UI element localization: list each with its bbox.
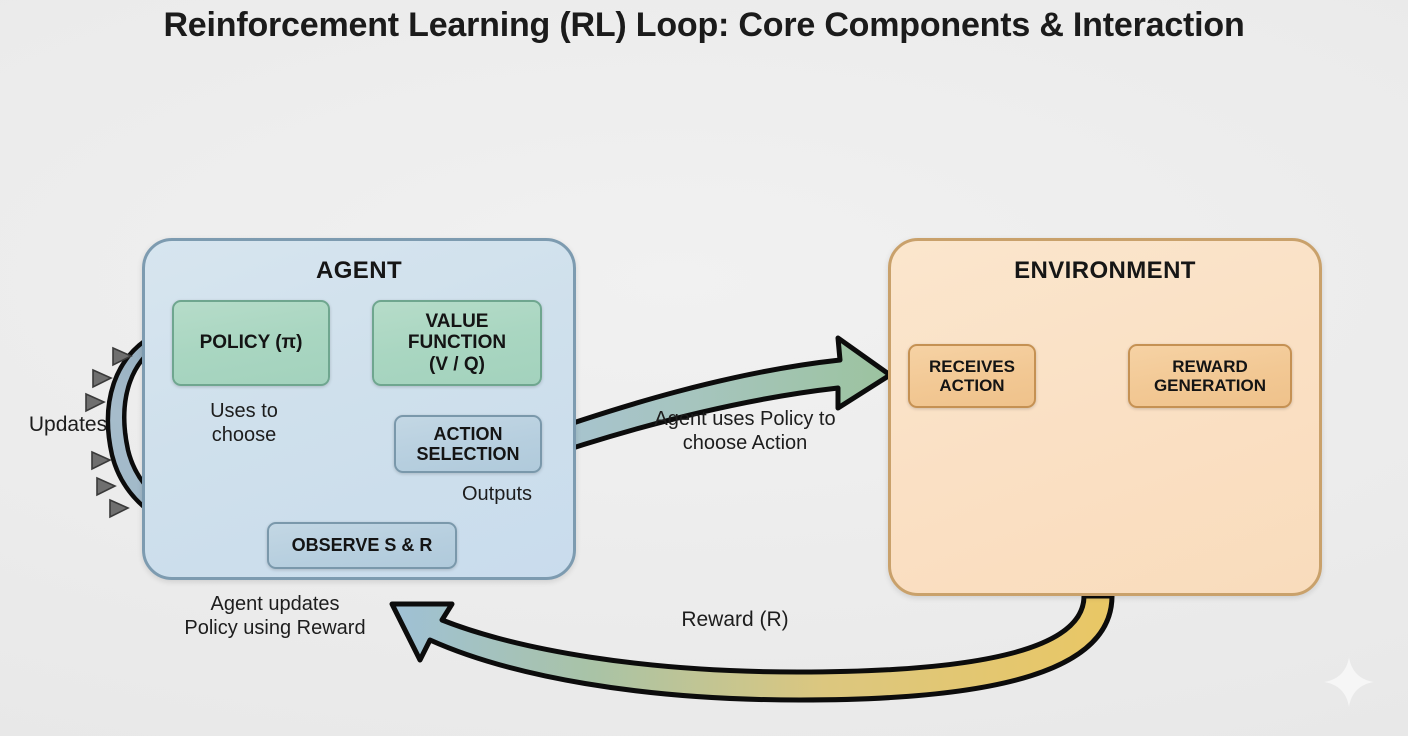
node-action-selection-label: ACTIONSELECTION <box>416 424 519 464</box>
node-receives-action-label: RECEIVESACTION <box>929 357 1015 395</box>
label-outputs: Outputs <box>462 483 562 507</box>
label-updates: Updates <box>8 413 128 438</box>
label-uses-to-choose: Uses tochoose <box>184 400 304 447</box>
environment-title: ENVIRONMENT <box>891 257 1319 285</box>
node-observe-label: OBSERVE S & R <box>292 535 433 555</box>
node-policy[interactable]: POLICY (π) <box>172 300 330 386</box>
node-reward-generation[interactable]: REWARDGENERATION <box>1128 344 1292 408</box>
node-reward-generation-label: REWARDGENERATION <box>1154 357 1266 395</box>
node-value-function[interactable]: VALUEFUNCTION(V / Q) <box>372 300 542 386</box>
node-policy-label: POLICY (π) <box>200 332 303 353</box>
node-observe-s-and-r[interactable]: OBSERVE S & R <box>267 522 457 569</box>
diagram-canvas: Reinforcement Learning (RL) Loop: Core C… <box>0 0 1408 736</box>
node-action-selection[interactable]: ACTIONSELECTION <box>394 415 542 473</box>
label-agent-uses-policy: Agent uses Policy tochoose Action <box>610 408 880 455</box>
label-agent-updates-policy: Agent updatesPolicy using Reward <box>150 593 400 640</box>
environment-container[interactable]: ENVIRONMENT <box>888 238 1322 596</box>
agent-title: AGENT <box>145 257 573 285</box>
node-receives-action[interactable]: RECEIVESACTION <box>908 344 1036 408</box>
sparkle-icon <box>1322 655 1376 709</box>
page-title: Reinforcement Learning (RL) Loop: Core C… <box>0 6 1408 45</box>
node-value-function-label: VALUEFUNCTION(V / Q) <box>408 311 506 375</box>
label-reward: Reward (R) <box>640 608 830 633</box>
